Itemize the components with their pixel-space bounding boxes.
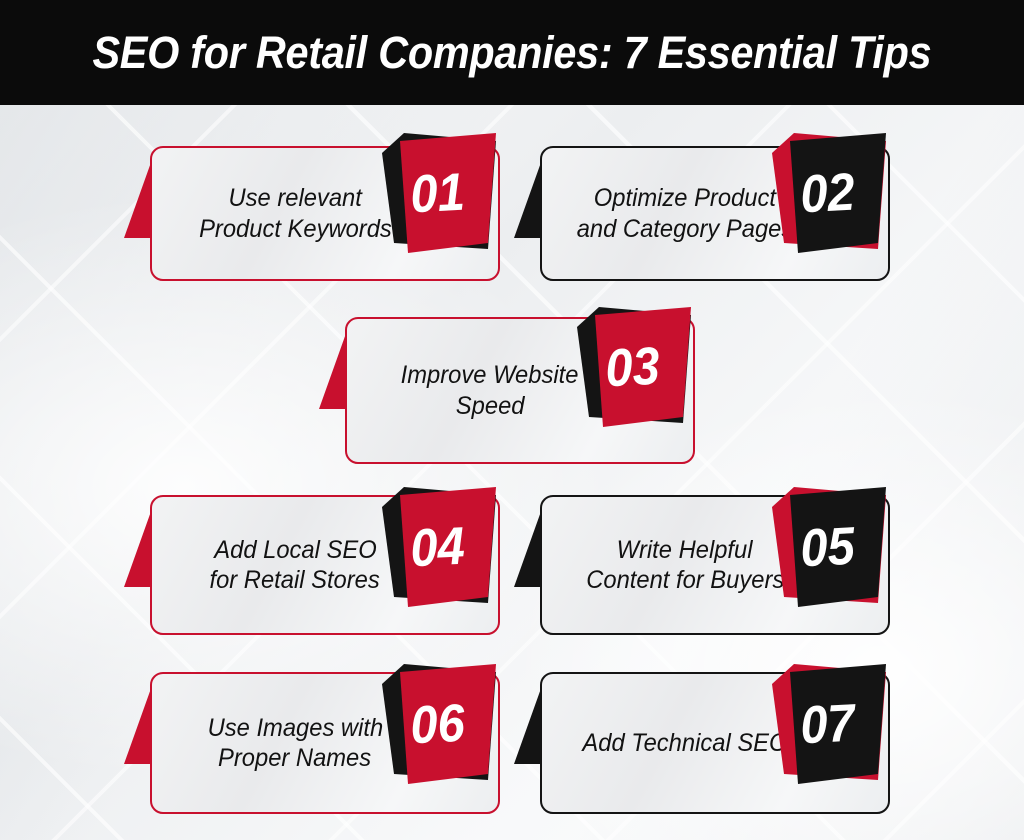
- card-text-line: Write Helpful: [617, 535, 753, 566]
- card-number-badge-02: 02: [768, 131, 886, 255]
- card-text-line: Use Images with: [207, 713, 383, 744]
- page-title: SEO for Retail Companies: 7 Essential Ti…: [0, 27, 1024, 79]
- card-text-line: Proper Names: [218, 743, 371, 774]
- card-text-line: Optimize Product: [594, 183, 776, 214]
- card-number-badge-01: 01: [378, 131, 496, 255]
- card-text-line: Use relevant: [228, 183, 361, 214]
- infographic-canvas: SEO for Retail Companies: 7 Essential Ti…: [0, 0, 1024, 840]
- header-bar: SEO for Retail Companies: 7 Essential Ti…: [0, 0, 1024, 105]
- card-text-line: and Category Pages: [577, 214, 794, 245]
- card-number-badge-03: 03: [573, 305, 691, 429]
- card-number-badge-07: 07: [768, 662, 886, 786]
- page-title-text: SEO for Retail Companies: 7 Essential Ti…: [93, 27, 932, 79]
- card-text-line: Improve Website: [401, 360, 579, 391]
- card-text-line: for Retail Stores: [210, 565, 380, 596]
- card-text-line: Add Local SEO: [214, 535, 376, 566]
- card-number-badge-04: 04: [378, 485, 496, 609]
- card-text-line: Add Technical SEO: [582, 728, 787, 759]
- card-number-badge-05: 05: [768, 485, 886, 609]
- card-text-line: Content for Buyers: [586, 565, 784, 596]
- card-text-line: Product Keywords: [199, 214, 392, 245]
- card-text-line: Speed: [456, 391, 525, 422]
- card-number-badge-06: 06: [378, 662, 496, 786]
